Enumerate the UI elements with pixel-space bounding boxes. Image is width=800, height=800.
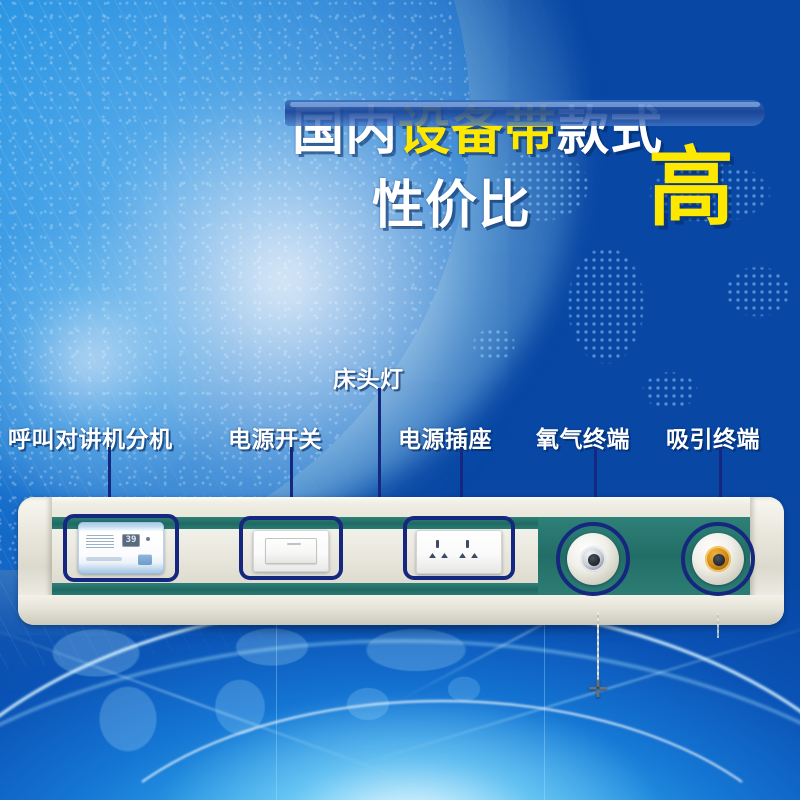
highlight-circle-oxygen bbox=[556, 522, 630, 596]
cord-cross-weight-icon: ✛ bbox=[586, 678, 610, 702]
callout-label-oxygen: 氧气终端 bbox=[536, 420, 630, 454]
headline-emphasis-word: 高 bbox=[648, 145, 734, 231]
callout-label-power-switch: 电源开关 bbox=[228, 420, 322, 454]
product-banner: 国内设备带款式 性价比 高 呼叫对讲机分机 电源开关 床头灯 电源插座 氧气终端… bbox=[0, 0, 800, 800]
lamp-diffuser-highlight bbox=[290, 102, 760, 107]
callout-label-power-socket: 电源插座 bbox=[398, 420, 492, 454]
highlight-box-power-switch bbox=[239, 516, 343, 580]
highlight-box-power-socket bbox=[403, 516, 515, 580]
callout-label-intercom: 呼叫对讲机分机 bbox=[8, 420, 173, 454]
callout-label-suction: 吸引终端 bbox=[666, 420, 760, 454]
horizon-glow bbox=[150, 690, 670, 800]
highlight-box-intercom bbox=[63, 514, 179, 582]
suction-pull-cord bbox=[717, 612, 719, 638]
highlight-circle-suction bbox=[681, 522, 755, 596]
headline-subtitle: 性价比 bbox=[372, 177, 531, 235]
callout-label-bed-lamp: 床头灯 bbox=[333, 360, 404, 394]
headline-line-2: 性价比 bbox=[372, 163, 531, 238]
panel-bottom-lip bbox=[18, 595, 784, 625]
oxygen-pull-cord bbox=[597, 612, 599, 684]
